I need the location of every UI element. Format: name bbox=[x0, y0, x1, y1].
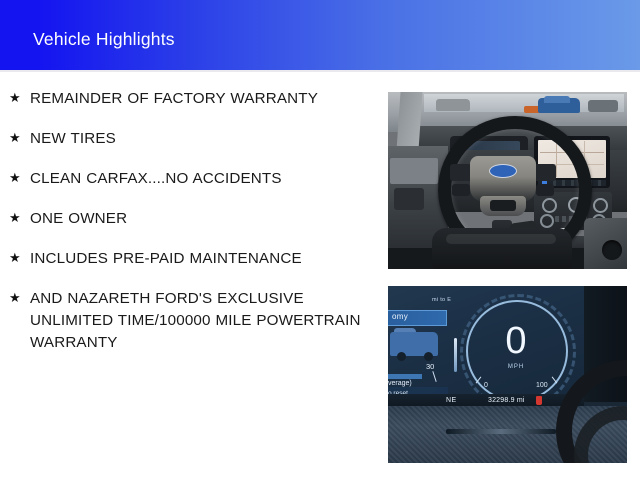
ford-badge-icon bbox=[489, 164, 517, 178]
gauge-max-label: 100 bbox=[536, 382, 548, 389]
list-item: ★ INCLUDES PRE-PAID MAINTENANCE bbox=[0, 248, 375, 270]
star-bullet-icon: ★ bbox=[9, 209, 21, 227]
list-item: ★ NEW TIRES bbox=[0, 128, 375, 150]
list-item-label: INCLUDES PRE-PAID MAINTENANCE bbox=[30, 248, 375, 270]
star-bullet-icon: ★ bbox=[9, 169, 21, 187]
cluster-photo-artwork: mi to E omy 30 verage) o reset 0 MPH bbox=[388, 286, 627, 463]
average-label: verage) bbox=[388, 380, 412, 387]
list-item: ★ ONE OWNER bbox=[0, 208, 375, 230]
vehicle-photo-interior[interactable] bbox=[388, 92, 627, 269]
star-bullet-icon: ★ bbox=[9, 89, 21, 107]
economy-tab-label: omy bbox=[392, 312, 408, 321]
list-item-label: REMAINDER OF FACTORY WARRANTY bbox=[30, 88, 375, 110]
vehicle-photo-cluster[interactable]: mi to E omy 30 verage) o reset 0 MPH bbox=[388, 286, 627, 463]
highlights-list: ★ REMAINDER OF FACTORY WARRANTY ★ NEW TI… bbox=[0, 88, 375, 372]
list-item: ★ REMAINDER OF FACTORY WARRANTY bbox=[0, 88, 375, 110]
star-bullet-icon: ★ bbox=[9, 129, 21, 147]
vehicle-highlights-page: Vehicle Highlights ★ REMAINDER OF FACTOR… bbox=[0, 0, 640, 480]
list-item-label: ONE OWNER bbox=[30, 208, 375, 230]
list-item-label: CLEAN CARFAX....NO ACCIDENTS bbox=[30, 168, 375, 190]
speed-unit-label: MPH bbox=[496, 364, 536, 370]
interior-photo-artwork bbox=[388, 92, 627, 269]
page-header: Vehicle Highlights bbox=[0, 0, 640, 70]
list-item-label: AND NAZARETH FORD'S EXCLUSIVE UNLIMITED … bbox=[30, 288, 375, 354]
star-bullet-icon: ★ bbox=[9, 289, 21, 307]
page-title: Vehicle Highlights bbox=[33, 31, 175, 49]
odometer-label: 32298.9 mi bbox=[488, 397, 525, 404]
range-to-empty-label: mi to E bbox=[432, 297, 451, 303]
list-item: ★ CLEAN CARFAX....NO ACCIDENTS bbox=[0, 168, 375, 190]
photo-column: mi to E omy 30 verage) o reset 0 MPH bbox=[388, 92, 628, 463]
speed-readout: 0 bbox=[496, 322, 536, 360]
list-item-label: NEW TIRES bbox=[30, 128, 375, 150]
gauge-min-label: 0 bbox=[484, 382, 488, 389]
fuel-pump-icon bbox=[536, 396, 542, 405]
star-bullet-icon: ★ bbox=[9, 249, 21, 267]
compass-heading-label: NE bbox=[446, 397, 457, 404]
header-divider bbox=[0, 70, 640, 72]
list-item: ★ AND NAZARETH FORD'S EXCLUSIVE UNLIMITE… bbox=[0, 288, 375, 354]
mpg-tick-label: 30 bbox=[426, 362, 434, 371]
